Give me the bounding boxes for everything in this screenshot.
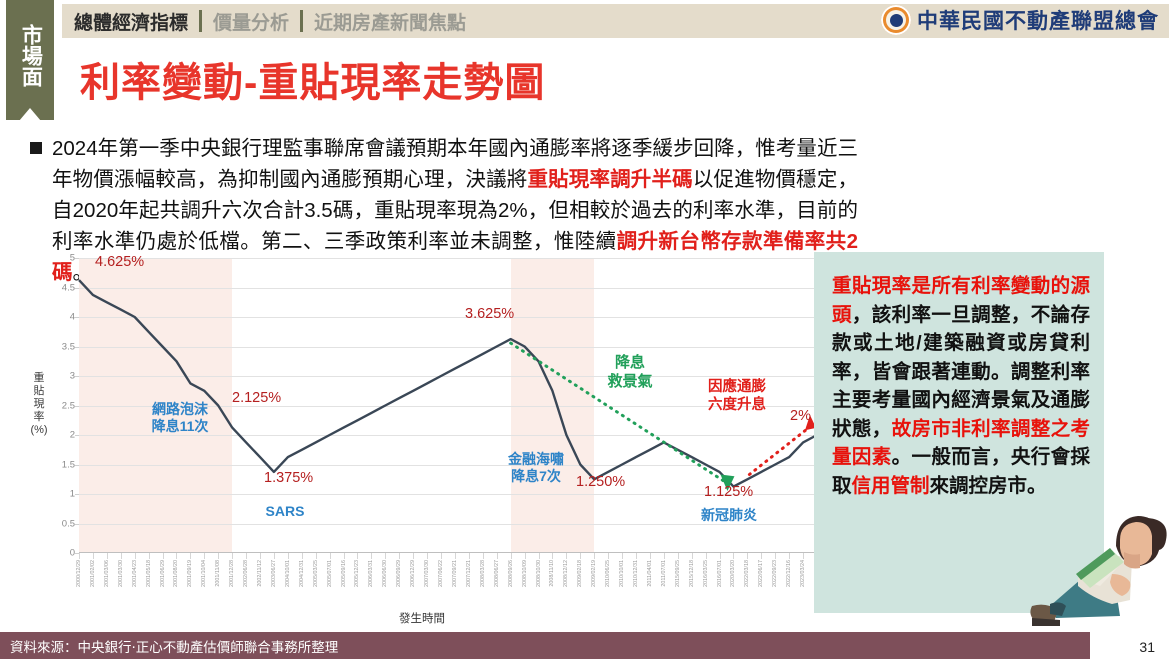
chart-x-tickmark	[260, 553, 261, 559]
chart-trend-rate-hike: 因應通膨 六度升息	[691, 378, 783, 414]
insight-callout-text: 重貼現率是所有利率變動的源頭，該利率一旦調整，不論存款或土地/建築融資或房貸利率…	[814, 252, 1104, 500]
chart-y-tickmark	[75, 406, 79, 407]
chart-x-tickmark	[552, 553, 553, 559]
chart-y-tick-label: 1	[41, 489, 75, 500]
chart-x-tickmark	[163, 553, 164, 559]
chart-plot-area: 00.511.522.533.544.55 4.625% 2.125% 1.37…	[79, 258, 817, 553]
chart-x-tick-label: 2001/03/06	[104, 560, 110, 587]
nav-item-macro-indicators[interactable]: 總體經濟指標	[74, 8, 188, 35]
chart-x-tickmark	[692, 553, 693, 559]
chart-x-tick-label: 2022/06/17	[758, 560, 764, 587]
chart-y-tickmark	[75, 376, 79, 377]
sidebar-tab-arrow-icon	[19, 108, 41, 121]
chart-x-tickmark	[706, 553, 707, 559]
chart-x-tick-label: 2001/04/23	[132, 560, 138, 587]
chart-x-tickmark	[497, 553, 498, 559]
chart-x-tickmark	[483, 553, 484, 559]
chart-x-tick-label: 2001/09/19	[187, 560, 193, 587]
chart-x-tickmark	[344, 553, 345, 559]
chart-y-tickmark	[75, 347, 79, 348]
chart-x-tickmark	[274, 553, 275, 559]
chart-x-tick-label: 2008/03/28	[480, 560, 486, 587]
chart-x-tickmark	[204, 553, 205, 559]
chart-x-tickmark	[608, 553, 609, 559]
chart-x-tick-label: 2005/03/25	[313, 560, 319, 587]
chart-x-tickmark	[107, 553, 108, 559]
chart-trend-rate-hike-line2: 六度升息	[691, 396, 783, 414]
chart-y-tick-label: 4.5	[41, 282, 75, 293]
chart-x-tickmark	[678, 553, 679, 559]
chart-value-label-4625: 4.625%	[95, 254, 144, 270]
chart-y-tick-label: 0.5	[41, 518, 75, 529]
chart-x-tick-label: 2022/03/18	[744, 560, 750, 587]
chart-x-tickmark	[469, 553, 470, 559]
nav-divider	[300, 10, 303, 32]
chart-x-tickmark	[135, 553, 136, 559]
chart-trend-rate-cut: 降息 救景氣	[597, 353, 663, 391]
chart-x-tickmark	[594, 553, 595, 559]
chart-y-tick-label: 3.5	[41, 341, 75, 352]
footer-source: 資料來源：中央銀行‧正心不動產估價師聯合事務所整理	[10, 636, 338, 656]
chart-x-tickmark	[371, 553, 372, 559]
chart-y-tick-label: 3	[41, 371, 75, 382]
chart-x-tick-label: 2001/11/08	[215, 560, 221, 587]
chart-event-dotcom-line1: 網路泡沫	[132, 401, 228, 418]
chart-x-tickmark	[176, 553, 177, 559]
chart-x-tickmark	[539, 553, 540, 559]
sidebar-tab-label: 市場面	[19, 0, 42, 104]
chart-x-tickmark	[622, 553, 623, 559]
chart-x-tick-label: 2007/12/21	[466, 560, 472, 587]
chart-x-tickmark	[190, 553, 191, 559]
chart-x-tickmark	[427, 553, 428, 559]
chart-x-tick-label: 2001/02/02	[90, 560, 96, 587]
chart-trend-rate-cut-line1: 降息	[597, 353, 663, 372]
chart-event-gfc-line2: 降息7次	[491, 468, 581, 485]
chart-x-tickmark	[580, 553, 581, 559]
chart-x-tick-label: 2009/02/18	[577, 560, 583, 587]
chart-y-tickmark	[75, 435, 79, 436]
chart-x-tick-label: 2004/10/01	[285, 560, 291, 587]
callout-highlight-3: 信用管制	[852, 475, 930, 497]
chart-y-tickmark	[75, 465, 79, 466]
page-title: 利率變動-重貼現率走勢圖	[80, 50, 545, 108]
footer-right-blank	[1090, 632, 1169, 659]
rate-trend-chart: 重貼現率(%) 00.511.522.533.544.55 4.625% 2.1…	[22, 252, 822, 622]
chart-x-tick-label: 2011/04/01	[647, 560, 653, 587]
association-seal-icon	[881, 5, 911, 35]
chart-x-tickmark	[636, 553, 637, 559]
nav-divider	[199, 10, 202, 32]
chart-x-tick-label: 2001/05/18	[146, 560, 152, 587]
chart-x-tickmark	[93, 553, 94, 559]
chart-x-tick-label: 2004/12/31	[299, 560, 305, 587]
brand-logo: 中華民國不動產聯盟總會	[881, 2, 1159, 38]
chart-trend-rate-hike-line1: 因應通膨	[691, 378, 783, 396]
chart-x-tick-label: 2006/03/31	[368, 560, 374, 587]
chart-y-tickmark	[75, 524, 79, 525]
chart-x-tick-label: 2001/06/29	[160, 560, 166, 587]
chart-x-tick-label: 2008/09/26	[508, 560, 514, 587]
chart-x-tick-label: 2011/07/01	[661, 560, 667, 587]
chart-x-tick-label: 2022/09/23	[772, 560, 778, 587]
chart-x-tick-label: 2005/09/16	[341, 560, 347, 587]
chart-y-tickmark	[75, 258, 79, 259]
chart-x-tick-labels: 2000/12/292001/02/022001/03/062001/03/30…	[79, 560, 817, 616]
chart-x-tickmark	[149, 553, 150, 559]
chart-value-label-1125: 1.125%	[704, 484, 753, 500]
chart-x-tick-label: 2008/06/27	[494, 560, 500, 587]
chart-y-tickmark	[75, 317, 79, 318]
chart-x-tickmark	[121, 553, 122, 559]
chart-x-tickmark	[720, 553, 721, 559]
chart-x-tick-label: 2008/11/10	[549, 560, 555, 587]
chart-x-tickmark	[385, 553, 386, 559]
chart-x-tickmark	[316, 553, 317, 559]
chart-y-tick-label: 0	[41, 548, 75, 559]
nav-item-price-volume[interactable]: 價量分析	[213, 8, 289, 35]
chart-value-label-2125: 2.125%	[232, 390, 281, 406]
chart-x-tick-label: 2015/12/18	[689, 560, 695, 587]
chart-event-dotcom-line2: 降息11次	[132, 418, 228, 435]
sidebar-tab-market[interactable]: 市場面	[6, 0, 54, 120]
chart-x-tickmark	[733, 553, 734, 559]
chart-y-tickmark	[75, 494, 79, 495]
chart-event-gfc: 金融海嘯 降息7次	[491, 451, 581, 485]
chart-x-tick-label: 2007/09/21	[452, 560, 458, 587]
chart-x-tickmark	[413, 553, 414, 559]
chart-y-tickmark	[75, 288, 79, 289]
chart-y-tick-label: 5	[41, 253, 75, 264]
bullet-square-icon	[30, 142, 42, 154]
chart-x-tickmark	[441, 553, 442, 559]
chart-value-label-1250: 1.250%	[576, 474, 625, 490]
chart-y-tick-label: 1.5	[41, 459, 75, 470]
chart-x-tick-label: 2003/06/27	[271, 560, 277, 587]
chart-x-tick-label: 2016/07/01	[717, 560, 723, 587]
chart-y-tick-label: 2.5	[41, 400, 75, 411]
chart-x-tick-label: 2006/09/29	[396, 560, 402, 587]
chart-event-sars: SARS	[255, 503, 315, 520]
chart-x-tick-label: 2005/07/01	[327, 560, 333, 587]
chart-red-trend-arrow	[749, 424, 813, 474]
chart-x-tick-label: 2006/12/29	[410, 560, 416, 587]
chart-x-tick-label: 2010/06/25	[605, 560, 611, 587]
chart-x-tickmark	[288, 553, 289, 559]
chart-x-tickmark	[232, 553, 233, 559]
chart-x-tick-label: 2022/12/16	[786, 560, 792, 587]
chart-x-tick-label: 2015/09/25	[675, 560, 681, 587]
chart-trend-rate-cut-line2: 救景氣	[597, 372, 663, 391]
brand-name: 中華民國不動產聯盟總會	[917, 5, 1159, 35]
chart-y-tick-label: 4	[41, 312, 75, 323]
chart-x-tickmark	[246, 553, 247, 559]
chart-x-tickmark	[330, 553, 331, 559]
chart-x-tickmark	[79, 553, 80, 559]
chart-x-tick-label: 2008/10/09	[522, 560, 528, 587]
chart-y-tick-label: 2	[41, 430, 75, 441]
chart-x-tick-label: 2010/12/31	[633, 560, 639, 587]
chart-x-tick-label: 2001/12/28	[229, 560, 235, 587]
chart-x-tickmark	[803, 553, 804, 559]
chart-x-axis-title: 發生時間	[22, 610, 822, 626]
chart-x-tick-label: 2002/06/28	[243, 560, 249, 587]
chart-x-tickmark	[455, 553, 456, 559]
chart-x-tick-label: 2008/10/30	[536, 560, 542, 587]
chart-x-tickmark	[302, 553, 303, 559]
chart-value-label-3625: 3.625%	[465, 306, 514, 322]
chart-x-tick-label: 2009/02/19	[591, 560, 597, 587]
chart-x-tickmark	[511, 553, 512, 559]
chart-value-label-2pct: 2%	[790, 408, 811, 424]
chart-x-tick-label: 2008/12/12	[563, 560, 569, 587]
chart-x-tickmark	[357, 553, 358, 559]
chart-x-tickmark	[566, 553, 567, 559]
chart-x-tickmark	[789, 553, 790, 559]
chart-x-tickmark	[525, 553, 526, 559]
chart-x-tickmark	[747, 553, 748, 559]
footer-bar: 資料來源：中央銀行‧正心不動產估價師聯合事務所整理	[0, 632, 1090, 659]
chart-x-tick-label: 2007/03/30	[424, 560, 430, 587]
chart-x-tickmark	[761, 553, 762, 559]
chart-x-tick-label: 2006/06/30	[382, 560, 388, 587]
slide-root: 市場面 總體經濟指標 價量分析 近期房產新聞焦點 中華民國不動產聯盟總會 利率變…	[0, 0, 1169, 659]
page-number: 31	[1139, 639, 1155, 655]
body-highlight-1: 重貼現率調升半碼	[527, 168, 692, 191]
chart-x-tickmark	[650, 553, 651, 559]
chart-event-covid: 新冠肺炎	[687, 507, 771, 524]
chart-x-tick-label: 2020/03/20	[730, 560, 736, 587]
chart-x-tick-label: 2023/03/24	[800, 560, 806, 587]
chart-x-tick-label: 2001/08/20	[173, 560, 179, 587]
chart-x-tickmark	[775, 553, 776, 559]
chart-x-tick-label: 2001/10/04	[201, 560, 207, 587]
chart-x-tick-label: 2005/12/23	[354, 560, 360, 587]
chart-x-tick-label: 2000/12/29	[76, 560, 82, 587]
chart-x-tick-label: 2002/11/12	[257, 560, 263, 587]
chart-x-tick-label: 2010/10/01	[619, 560, 625, 587]
chart-x-tick-label: 2016/03/25	[703, 560, 709, 587]
chart-x-tick-label: 2007/06/22	[438, 560, 444, 587]
chart-x-tickmark	[664, 553, 665, 559]
chart-event-gfc-line1: 金融海嘯	[491, 451, 581, 468]
chart-x-tickmark	[399, 553, 400, 559]
chart-event-dotcom: 網路泡沫 降息11次	[132, 401, 228, 435]
chart-value-label-1375: 1.375%	[264, 470, 313, 486]
chart-x-tickmark	[218, 553, 219, 559]
reading-person-illustration	[1020, 488, 1169, 630]
nav-item-news-focus[interactable]: 近期房產新聞焦點	[314, 8, 466, 35]
chart-x-tick-label: 2001/03/30	[118, 560, 124, 587]
